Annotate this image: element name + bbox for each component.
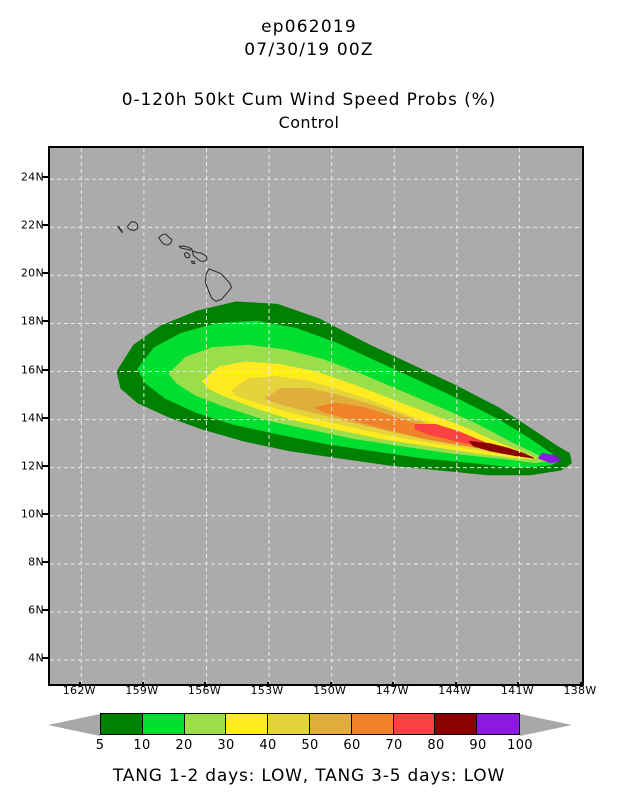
y-tick-label-20N: 20N [4, 267, 44, 280]
colorbar-label-80: 80 [414, 738, 458, 753]
run-type: Control [0, 112, 618, 134]
y-tick-label-16N: 16N [4, 363, 44, 376]
product-title: 0-120h 50kt Cum Wind Speed Probs (%) [0, 88, 618, 112]
y-tick-label-4N: 4N [4, 651, 44, 664]
tang-footer: TANG 1-2 days: LOW, TANG 3-5 days: LOW [0, 766, 618, 786]
colorbar-swatch-10-20 [143, 714, 185, 734]
colorbar-swatch-70-80 [394, 714, 436, 734]
forecast-datetime: 07/30/19 00Z [0, 39, 618, 62]
y-tick-label-10N: 10N [4, 507, 44, 520]
colorbar-label-5: 5 [78, 738, 122, 753]
colorbar-arrow-left-icon [48, 714, 100, 736]
island-hawaii [205, 269, 231, 301]
y-tick-mark-10N [42, 513, 48, 515]
y-tick-mark-24N [42, 176, 48, 178]
colorbar-swatches [100, 713, 520, 735]
y-tick-mark-22N [42, 224, 48, 226]
colorbar-label-100: 100 [498, 738, 542, 753]
colorbar-swatch-5-10 [101, 714, 143, 734]
x-tick-mark-147W [392, 682, 394, 687]
y-tick-mark-20N [42, 272, 48, 274]
island-oahu [159, 234, 172, 245]
colorbar-swatch-30-40 [226, 714, 268, 734]
colorbar-label-40: 40 [246, 738, 290, 753]
map-plot-area[interactable] [48, 146, 584, 686]
x-tick-mark-138W [580, 682, 582, 687]
y-tick-label-14N: 14N [4, 411, 44, 424]
island-maui [192, 251, 207, 262]
colorbar-tick-labels: 5102030405060708090100 [48, 738, 572, 756]
colorbar-label-30: 30 [204, 738, 248, 753]
y-tick-label-8N: 8N [4, 555, 44, 568]
x-tick-mark-162W [79, 682, 81, 687]
island-lanai [185, 253, 190, 258]
y-axis-ticks [42, 146, 50, 682]
colorbar-swatch-80-90 [435, 714, 477, 734]
colorbar-swatch-40-50 [268, 714, 310, 734]
x-axis-ticks [48, 682, 580, 690]
y-tick-mark-6N [42, 609, 48, 611]
y-tick-mark-8N [42, 561, 48, 563]
colorbar-arrow-right-icon [520, 714, 572, 736]
y-tick-mark-12N [42, 465, 48, 467]
y-tick-mark-16N [42, 369, 48, 371]
colorbar-swatch-20-30 [185, 714, 227, 734]
storm-id: ep062019 [0, 16, 618, 39]
y-tick-mark-18N [42, 320, 48, 322]
colorbar-label-20: 20 [162, 738, 206, 753]
y-tick-label-6N: 6N [4, 603, 44, 616]
probability-contour-map [50, 148, 582, 684]
colorbar-label-70: 70 [372, 738, 416, 753]
colorbar-swatch-90-100 [477, 714, 519, 734]
y-tick-mark-14N [42, 417, 48, 419]
colorbar-label-90: 90 [456, 738, 500, 753]
island-kahoolawe [191, 261, 195, 263]
colorbar [48, 713, 572, 737]
x-tick-mark-156W [204, 682, 206, 687]
x-tick-mark-141W [517, 682, 519, 687]
colorbar-swatch-60-70 [352, 714, 394, 734]
y-tick-mark-4N [42, 657, 48, 659]
contour-fills [117, 302, 572, 475]
subtitle-block: 0-120h 50kt Cum Wind Speed Probs (%) Con… [0, 88, 618, 134]
colorbar-label-50: 50 [288, 738, 332, 753]
x-tick-mark-153W [267, 682, 269, 687]
y-tick-label-24N: 24N [4, 171, 44, 184]
title-block: ep062019 07/30/19 00Z [0, 16, 618, 62]
hawaii-coastlines [118, 222, 232, 301]
x-tick-mark-150W [330, 682, 332, 687]
island-kauai [128, 222, 138, 231]
colorbar-swatch-50-60 [310, 714, 352, 734]
x-tick-mark-159W [142, 682, 144, 687]
x-tick-mark-144W [455, 682, 457, 687]
y-tick-label-12N: 12N [4, 459, 44, 472]
colorbar-label-60: 60 [330, 738, 374, 753]
y-axis-labels: 24N22N20N18N16N14N12N10N8N6N4N [0, 146, 44, 682]
y-tick-label-18N: 18N [4, 315, 44, 328]
y-tick-label-22N: 22N [4, 219, 44, 232]
colorbar-label-10: 10 [120, 738, 164, 753]
island-molokai [179, 246, 192, 250]
